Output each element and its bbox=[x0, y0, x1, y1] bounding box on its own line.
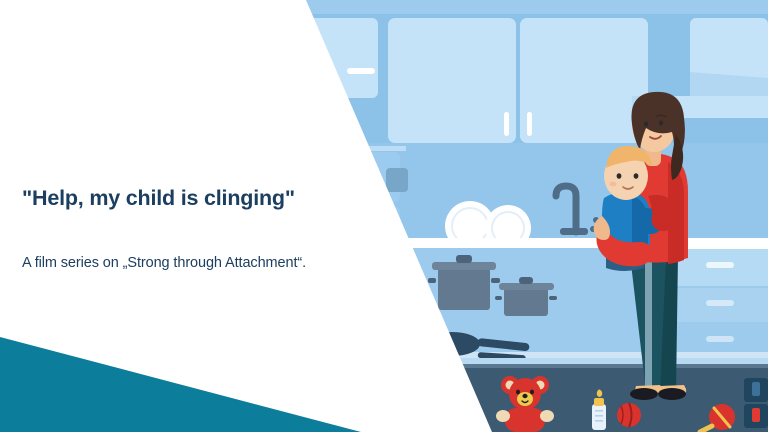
drawer-handle bbox=[706, 300, 734, 306]
mother-eye bbox=[644, 121, 648, 126]
presentation-slide: "Help, my child is clinging" A film seri… bbox=[0, 0, 768, 432]
cabinet-handle bbox=[347, 68, 375, 74]
cabinet-handle bbox=[527, 112, 532, 136]
mother-eye bbox=[659, 120, 663, 125]
drawer-handle bbox=[706, 336, 734, 342]
child-eye bbox=[617, 173, 622, 179]
slide-subheadline: A film series on „Strong through Attachm… bbox=[22, 254, 382, 273]
shoe-left bbox=[630, 388, 658, 400]
cabinet-handle bbox=[504, 112, 509, 136]
title-text-block: "Help, my child is clinging" A film seri… bbox=[22, 186, 382, 273]
shoe-right bbox=[658, 388, 686, 400]
child-eye bbox=[634, 173, 639, 179]
ball-toy bbox=[617, 403, 641, 427]
slide-headline: "Help, my child is clinging" bbox=[22, 186, 382, 212]
child-cheek bbox=[610, 182, 617, 187]
drawer-handle bbox=[706, 262, 734, 268]
